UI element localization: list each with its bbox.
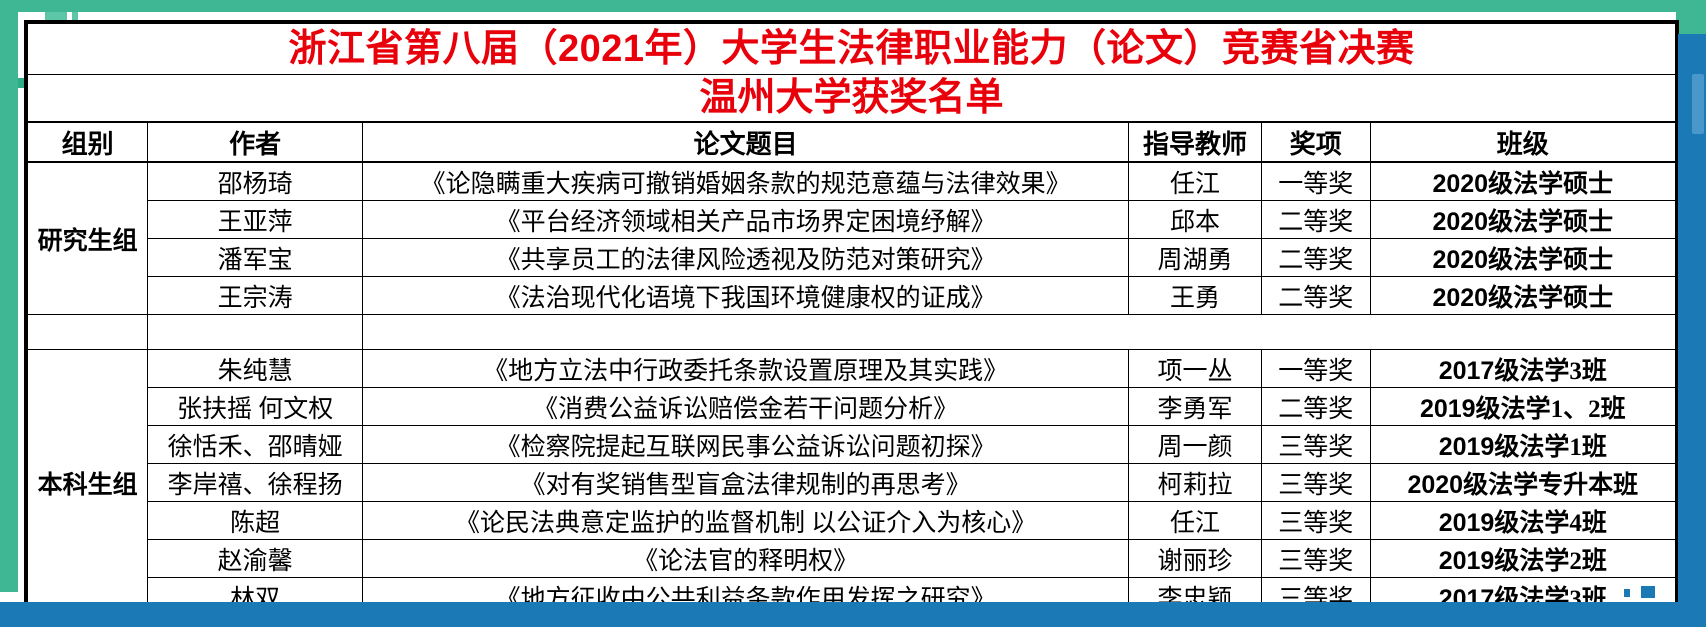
class-name: 级法学3班 <box>1494 358 1607 385</box>
class-cell: 2020级法学硕士 <box>1370 239 1675 277</box>
spacer-row <box>28 315 1676 350</box>
document-title-line-2: 温州大学获奖名单 <box>28 75 1676 123</box>
table-row: 本科生组朱纯慧《地方立法中行政委托条款设置原理及其实践》项一丛一等奖2017级法… <box>28 350 1676 388</box>
table-row: 陈超《论民法典意定监护的监督机制 以公证介入为核心》任江三等奖2019级法学4班 <box>28 502 1676 540</box>
paper-title-cell: 《共享员工的法律风险透视及防范对策研究》 <box>363 239 1129 277</box>
paper-title-cell: 《论民法典意定监护的监督机制 以公证介入为核心》 <box>363 502 1129 540</box>
title-year: 2021 <box>558 28 645 70</box>
vertical-scrollbar-thumb[interactable] <box>1692 74 1704 134</box>
class-cell: 2019级法学2班 <box>1370 540 1675 578</box>
class-cell: 2020级法学专升本班 <box>1370 464 1675 502</box>
advisor-cell: 项一丛 <box>1129 350 1262 388</box>
author-cell: 赵渝馨 <box>148 540 363 578</box>
award-cell: 三等奖 <box>1262 426 1371 464</box>
advisor-cell: 柯莉拉 <box>1129 464 1262 502</box>
horizontal-scrollbar[interactable] <box>0 602 1706 627</box>
fill-handle-secondary[interactable] <box>1624 589 1630 597</box>
advisor-cell: 任江 <box>1129 502 1262 540</box>
table-row: 潘军宝《共享员工的法律风险透视及防范对策研究》周湖勇二等奖2020级法学硕士 <box>28 239 1676 277</box>
table-row: 张扶摇 何文权《消费公益诉讼赔偿金若干问题分析》李勇军二等奖2019级法学1、2… <box>28 388 1676 426</box>
title-text-a: 浙江省第八届（ <box>288 28 558 70</box>
title-row-1: 浙江省第八届（2021年）大学生法律职业能力（论文）竞赛省决赛 <box>28 24 1676 75</box>
award-cell: 一等奖 <box>1262 350 1371 388</box>
author-cell: 陈超 <box>148 502 363 540</box>
class-name: 级法学1、2班 <box>1476 396 1626 423</box>
class-name: 级法学专升本班 <box>1463 472 1638 499</box>
column-header-1: 作者 <box>148 122 363 162</box>
vertical-scrollbar[interactable] <box>1678 34 1706 627</box>
class-year: 2019 <box>1439 547 1495 575</box>
teal-top-border <box>0 0 1706 12</box>
table-row: 研究生组邵杨琦《论隐瞒重大疾病可撤销婚姻条款的规范意蕴与法律效果》任江一等奖20… <box>28 162 1676 201</box>
award-cell: 三等奖 <box>1262 502 1371 540</box>
column-header-3: 指导教师 <box>1129 122 1262 162</box>
advisor-cell: 谢丽珍 <box>1129 540 1262 578</box>
award-cell: 三等奖 <box>1262 540 1371 578</box>
paper-title-cell: 《地方立法中行政委托条款设置原理及其实践》 <box>363 350 1129 388</box>
author-cell: 张扶摇 何文权 <box>148 388 363 426</box>
class-year: 2017 <box>1439 357 1495 385</box>
paper-title-cell: 《检察院提起互联网民事公益诉讼问题初探》 <box>363 426 1129 464</box>
award-cell: 一等奖 <box>1262 162 1371 201</box>
awards-table: 浙江省第八届（2021年）大学生法律职业能力（论文）竞赛省决赛温州大学获奖名单组… <box>27 23 1676 616</box>
spacer-cell-rest <box>363 315 1676 350</box>
document-title-line-1: 浙江省第八届（2021年）大学生法律职业能力（论文）竞赛省决赛 <box>28 24 1676 75</box>
table-row: 徐恬禾、邵晴娅《检察院提起互联网民事公益诉讼问题初探》周一颜三等奖2019级法学… <box>28 426 1676 464</box>
award-cell: 二等奖 <box>1262 201 1371 239</box>
worksheet-area: 浙江省第八届（2021年）大学生法律职业能力（论文）竞赛省决赛温州大学获奖名单组… <box>24 20 1679 619</box>
class-year: 2019 <box>1439 433 1495 461</box>
class-name: 级法学4班 <box>1494 510 1607 537</box>
column-header-4: 奖项 <box>1262 122 1371 162</box>
author-cell: 王亚萍 <box>148 201 363 239</box>
class-name: 级法学硕士 <box>1488 247 1613 274</box>
author-cell: 徐恬禾、邵晴娅 <box>148 426 363 464</box>
advisor-cell: 王勇 <box>1129 277 1262 315</box>
class-cell: 2020级法学硕士 <box>1370 162 1675 201</box>
award-cell: 二等奖 <box>1262 277 1371 315</box>
column-header-5: 班级 <box>1370 122 1675 162</box>
class-cell: 2019级法学4班 <box>1370 502 1675 540</box>
advisor-cell: 周湖勇 <box>1129 239 1262 277</box>
paper-title-cell: 《论隐瞒重大疾病可撤销婚姻条款的规范意蕴与法律效果》 <box>363 162 1129 201</box>
class-year: 2019 <box>1439 509 1495 537</box>
table-row: 赵渝馨《论法官的释明权》谢丽珍三等奖2019级法学2班 <box>28 540 1676 578</box>
paper-title-cell: 《论法官的释明权》 <box>363 540 1129 578</box>
class-name: 级法学2班 <box>1494 548 1607 575</box>
column-header-2: 论文题目 <box>363 122 1129 162</box>
group-name-cell: 本科生组 <box>28 350 148 616</box>
award-cell: 三等奖 <box>1262 464 1371 502</box>
spacer-cell-group <box>28 315 148 350</box>
class-name: 级法学硕士 <box>1488 171 1613 198</box>
class-cell: 2020级法学硕士 <box>1370 201 1675 239</box>
paper-title-cell: 《消费公益诉讼赔偿金若干问题分析》 <box>363 388 1129 426</box>
spacer-cell-author <box>148 315 363 350</box>
class-name: 级法学硕士 <box>1488 285 1613 312</box>
advisor-cell: 周一颜 <box>1129 426 1262 464</box>
paper-title-cell: 《法治现代化语境下我国环境健康权的证成》 <box>363 277 1129 315</box>
class-name: 级法学1班 <box>1494 434 1607 461</box>
author-cell: 朱纯慧 <box>148 350 363 388</box>
table-row: 王宗涛《法治现代化语境下我国环境健康权的证成》王勇二等奖2020级法学硕士 <box>28 277 1676 315</box>
class-year: 2020 <box>1432 284 1488 312</box>
advisor-cell: 李勇军 <box>1129 388 1262 426</box>
table-row: 王亚萍《平台经济领域相关产品市场界定困境纾解》邱本二等奖2020级法学硕士 <box>28 201 1676 239</box>
class-name: 级法学硕士 <box>1488 209 1613 236</box>
teal-top-right-corner <box>1676 0 1706 34</box>
fill-handle[interactable] <box>1641 586 1655 598</box>
paper-title-cell: 《平台经济领域相关产品市场界定困境纾解》 <box>363 201 1129 239</box>
class-cell: 2019级法学1、2班 <box>1370 388 1675 426</box>
title-row-2: 温州大学获奖名单 <box>28 75 1676 123</box>
title-text-b: 年）大学生法律职业能力（论文）竞赛省决赛 <box>645 28 1415 70</box>
table-row: 李岸禧、徐程扬《对有奖销售型盲盒法律规制的再思考》柯莉拉三等奖2020级法学专升… <box>28 464 1676 502</box>
author-cell: 潘军宝 <box>148 239 363 277</box>
author-cell: 李岸禧、徐程扬 <box>148 464 363 502</box>
class-year: 2019 <box>1420 395 1476 423</box>
author-cell: 王宗涛 <box>148 277 363 315</box>
paper-title-cell: 《对有奖销售型盲盒法律规制的再思考》 <box>363 464 1129 502</box>
class-year: 2020 <box>1432 170 1488 198</box>
author-cell: 邵杨琦 <box>148 162 363 201</box>
spreadsheet-screen: 浙江省第八届（2021年）大学生法律职业能力（论文）竞赛省决赛温州大学获奖名单组… <box>0 0 1706 627</box>
class-cell: 2017级法学3班 <box>1370 350 1675 388</box>
column-header-0: 组别 <box>28 122 148 162</box>
class-year: 2020 <box>1432 208 1488 236</box>
teal-left-border <box>0 0 18 592</box>
class-cell: 2019级法学1班 <box>1370 426 1675 464</box>
table-header-row: 组别作者论文题目指导教师奖项班级 <box>28 122 1676 162</box>
class-year: 2020 <box>1407 471 1463 499</box>
class-cell: 2020级法学硕士 <box>1370 277 1675 315</box>
class-year: 2020 <box>1432 246 1488 274</box>
award-cell: 二等奖 <box>1262 388 1371 426</box>
group-name-cell: 研究生组 <box>28 162 148 315</box>
award-cell: 二等奖 <box>1262 239 1371 277</box>
advisor-cell: 任江 <box>1129 162 1262 201</box>
advisor-cell: 邱本 <box>1129 201 1262 239</box>
